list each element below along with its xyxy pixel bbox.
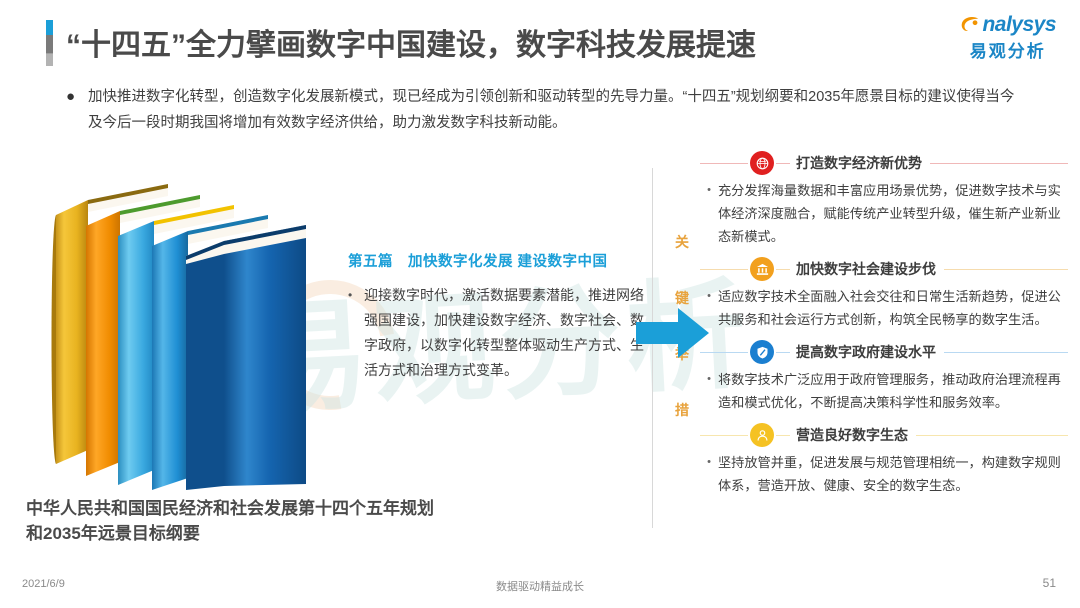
- bank-building-icon: [750, 257, 774, 281]
- measure-2-rule-right: [944, 269, 1068, 270]
- measure-1-rule-right: [930, 163, 1068, 164]
- middle-column: 第五篇 加快数字化发展 建设数字中国 • 迎接数字时代，激活数据要素潜能，推进网…: [348, 250, 648, 383]
- measure-4-text: 坚持放管并重，促进发展与规范管理相统一，构建数字规则体系，营造开放、健康、安全的…: [718, 451, 1068, 497]
- logo-text-en: nalysys: [982, 14, 1056, 36]
- intro-text: 加快推进数字化转型，创造数字化发展新模式，现已经成为引领创新和驱动转型的先导力量…: [88, 84, 1026, 136]
- middle-heading: 第五篇 加快数字化发展 建设数字中国: [348, 250, 648, 271]
- measure-3-rule-right: [944, 352, 1068, 353]
- globe-network-icon: [750, 151, 774, 175]
- measure-3-text: 将数字技术广泛应用于政府管理服务，推动政府治理流程再造和模式优化，不断提高决策科…: [718, 368, 1068, 414]
- analysys-logo: nalysys 易观分析: [959, 14, 1056, 62]
- measure-3-bullet-icon: •: [700, 368, 718, 414]
- measure-4-bullet-icon: •: [700, 451, 718, 497]
- footer-page-number: 51: [1043, 576, 1056, 590]
- logo-arc-icon: [959, 14, 981, 36]
- measure-1-title: 打造数字经济新优势: [796, 153, 922, 173]
- measure-section-1: 打造数字经济新优势 • 充分发挥海量数据和丰富应用场景优势，促进数字技术与实体经…: [700, 148, 1068, 248]
- books-illustration: [48, 170, 318, 490]
- measure-1-text: 充分发挥海量数据和丰富应用场景优势，促进数字技术与实体经济深度融合，赋能传统产业…: [718, 179, 1068, 248]
- footer-slogan: 数据驱动精益成长: [0, 578, 1080, 594]
- measure-section-3: 提高数字政府建设水平 • 将数字技术广泛应用于政府管理服务，推动政府治理流程再造…: [700, 337, 1068, 414]
- middle-text: 迎接数字时代，激活数据要素潜能，推进网络强国建设，加快建设数字经济、数字社会、数…: [364, 283, 648, 383]
- intro-paragraph: ● 加快推进数字化转型，创造数字化发展新模式，现已经成为引领创新和驱动转型的先导…: [66, 84, 1026, 136]
- measure-section-2: 加快数字社会建设步伐 • 适应数字技术全面融入社会交往和日常生活新趋势，促进公共…: [700, 254, 1068, 331]
- page-title: “十四五”全力擘画数字中国建设，数字科技发展提速: [66, 20, 756, 64]
- vertical-label-char-0: 关: [672, 214, 692, 270]
- measure-1-bullet-icon: •: [700, 179, 718, 248]
- measure-3-rule-mid: [776, 352, 790, 353]
- measure-1-rule-mid: [776, 163, 790, 164]
- books-caption: 中华人民共和国国民经济和社会发展第十四个五年规划和2035年远景目标纲要: [26, 496, 438, 546]
- intro-bullet-icon: ●: [66, 84, 88, 136]
- middle-bullet-icon: •: [348, 283, 364, 383]
- measure-2-title: 加快数字社会建设步伐: [796, 259, 936, 279]
- measure-4-rule-right: [916, 435, 1068, 436]
- measure-4-rule-mid: [776, 435, 790, 436]
- measure-2-rule-mid: [776, 269, 790, 270]
- person-icon: [750, 423, 774, 447]
- measure-2-rule-left: [700, 269, 748, 270]
- right-arrow-icon: [636, 306, 710, 365]
- measure-3-title: 提高数字政府建设水平: [796, 342, 936, 362]
- vertical-label-char-3: 措: [672, 382, 692, 438]
- measure-1-rule-left: [700, 163, 748, 164]
- logo-text-cn: 易观分析: [959, 37, 1056, 62]
- measure-4-rule-left: [700, 435, 748, 436]
- key-measures-list: 打造数字经济新优势 • 充分发挥海量数据和丰富应用场景优势，促进数字技术与实体经…: [700, 148, 1068, 503]
- measure-2-text: 适应数字技术全面融入社会交往和日常生活新趋势，促进公共服务和社会运行方式创新，构…: [718, 285, 1068, 331]
- shield-icon: [750, 340, 774, 364]
- measure-4-title: 营造良好数字生态: [796, 425, 908, 445]
- measure-section-4: 营造良好数字生态 • 坚持放管并重，促进发展与规范管理相统一，构建数字规则体系，…: [700, 420, 1068, 497]
- title-accent-bar: [46, 20, 53, 66]
